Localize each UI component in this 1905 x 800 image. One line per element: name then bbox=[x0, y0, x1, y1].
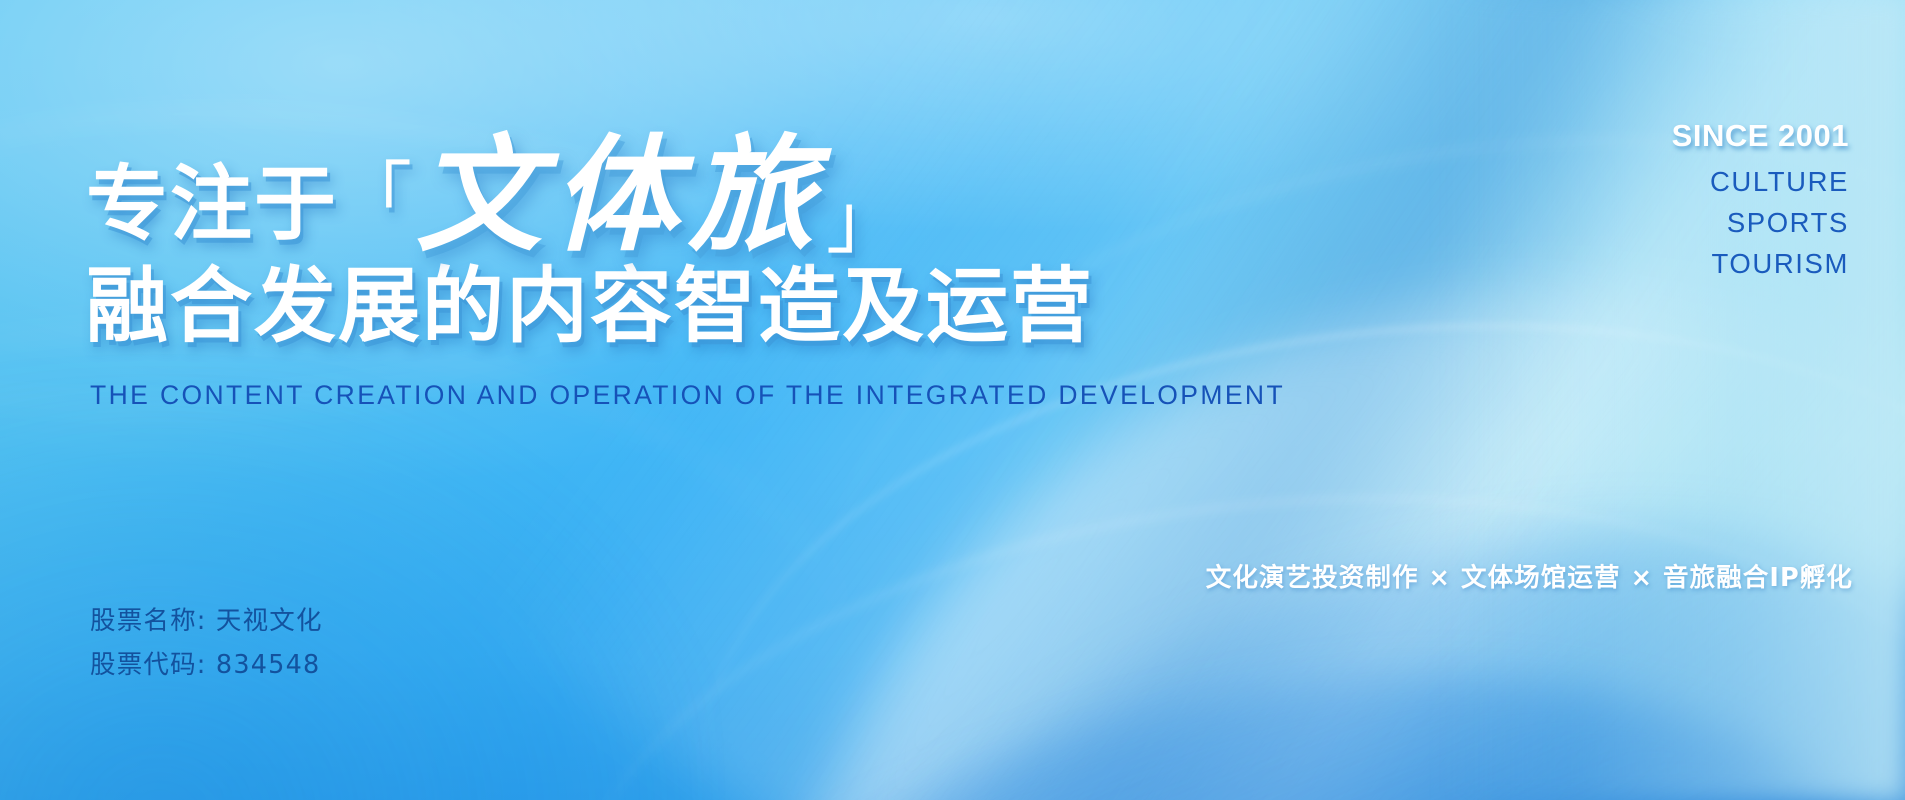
headline-line-2: 融合发展的内容智造及运营 bbox=[86, 266, 1094, 348]
right-info-stack: SINCE 2001 CULTURE SPORTS TOURISM bbox=[1672, 118, 1849, 281]
stock-info-block: 股票名称: 天视文化 股票代码: 834548 bbox=[90, 599, 323, 688]
bracket-open-icon: 「 bbox=[338, 160, 412, 234]
english-subtitle: THE CONTENT CREATION AND OPERATION OF TH… bbox=[90, 380, 1285, 411]
headline-brush-keyword: 文体旅 bbox=[416, 132, 824, 258]
category-label-sports: SPORTS bbox=[1672, 205, 1849, 240]
headline-line-1: 专注于 「 文体旅 」 bbox=[86, 120, 1094, 246]
headline-subline: 融合发展的内容智造及运营 bbox=[86, 266, 1094, 348]
stock-name-line: 股票名称: 天视文化 bbox=[90, 599, 323, 644]
headline-prefix: 专注于 bbox=[86, 164, 338, 246]
poster-canvas: 专注于 「 文体旅 」 融合发展的内容智造及运营 THE CONTENT CRE… bbox=[0, 0, 1905, 800]
business-tagline: 文化演艺投资制作 × 文体场馆运营 × 音旅融合IP孵化 bbox=[1206, 557, 1853, 594]
headline-block: 专注于 「 文体旅 」 融合发展的内容智造及运营 bbox=[86, 120, 1094, 348]
category-label-culture: CULTURE bbox=[1672, 164, 1849, 199]
stock-code-line: 股票代码: 834548 bbox=[90, 643, 323, 688]
bracket-close-icon: 」 bbox=[826, 184, 900, 258]
category-label-tourism: TOURISM bbox=[1672, 246, 1849, 281]
poster-content: 专注于 「 文体旅 」 融合发展的内容智造及运营 THE CONTENT CRE… bbox=[0, 0, 1905, 800]
since-year-label: SINCE 2001 bbox=[1672, 118, 1849, 154]
